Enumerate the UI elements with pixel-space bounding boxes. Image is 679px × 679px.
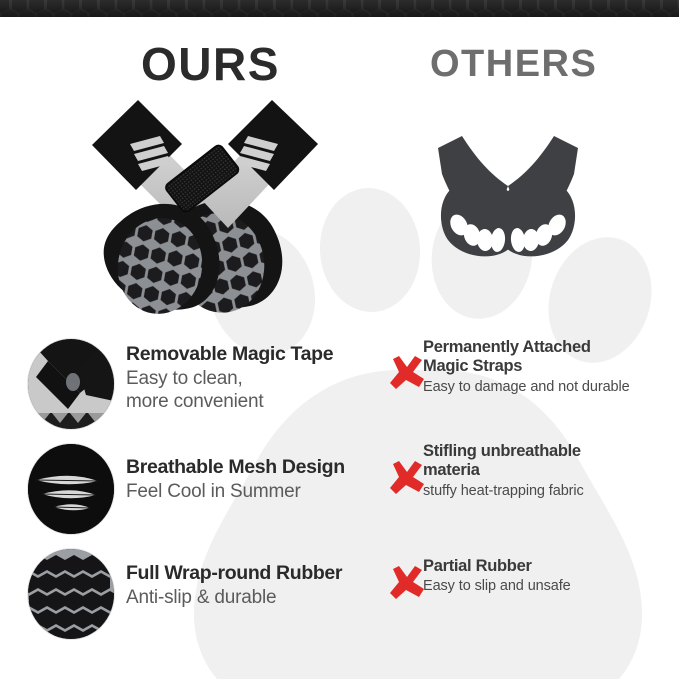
- red-x-icon: [386, 563, 426, 603]
- ours-subtext-line1: Anti-slip & durable: [126, 587, 276, 608]
- others-feature-text: Partial Rubber Easy to slip and unsafe: [423, 557, 675, 596]
- ours-subtext-line2: more convenient: [126, 391, 394, 413]
- others-heading-line1: Partial Rubber: [423, 557, 532, 575]
- others-heading-line1: Stifling unbreathable: [423, 442, 581, 460]
- ours-feature-subtext: Easy to clean, more convenient: [126, 368, 394, 413]
- ours-feature-heading: Removable Magic Tape: [126, 343, 394, 365]
- others-feature-heading: Partial Rubber: [423, 557, 675, 576]
- others-product-image: [428, 130, 588, 280]
- ours-feature-text: Removable Magic Tape Easy to clean, more…: [126, 343, 394, 413]
- column-title-ours: OURS: [141, 37, 280, 91]
- others-feature-heading: Permanently Attached Magic Straps: [423, 338, 675, 377]
- ours-subtext-line1: Feel Cool in Summer: [126, 481, 301, 502]
- others-feature-text: Permanently Attached Magic Straps Easy t…: [423, 338, 675, 396]
- ours-feature-text: Breathable Mesh Design Feel Cool in Summ…: [126, 456, 394, 504]
- column-title-others: OTHERS: [430, 43, 597, 86]
- others-feature-text: Stifling unbreathable materia stuffy hea…: [423, 442, 675, 500]
- thumb-honeycomb-rubber: [28, 549, 114, 639]
- others-feature-subtext: Easy to slip and unsafe: [423, 578, 675, 595]
- ours-feature-heading: Full Wrap-round Rubber: [126, 562, 394, 584]
- ours-feature-heading: Breathable Mesh Design: [126, 456, 394, 478]
- others-feature-subtext: Easy to damage and not durable: [423, 379, 675, 396]
- red-x-icon: [386, 458, 426, 498]
- ours-product-image: [72, 100, 332, 315]
- others-feature-subtext: stuffy heat-trapping fabric: [423, 483, 675, 500]
- thumb-magic-tape: [28, 339, 114, 429]
- others-heading-line2: materia: [423, 461, 675, 480]
- ours-feature-text: Full Wrap-round Rubber Anti-slip & durab…: [126, 562, 394, 610]
- feature-row: Breathable Mesh Design Feel Cool in Summ…: [0, 438, 679, 538]
- others-heading-line1: Permanently Attached: [423, 338, 591, 356]
- others-feature-heading: Stifling unbreathable materia: [423, 442, 675, 481]
- thumb-breathable-mesh: [28, 444, 114, 534]
- comparison-infographic: OURS OTHERS: [0, 0, 679, 679]
- honeycomb-top-border: [0, 0, 679, 17]
- ours-feature-subtext: Anti-slip & durable: [126, 587, 394, 609]
- red-x-icon: [386, 353, 426, 393]
- ours-feature-subtext: Feel Cool in Summer: [126, 481, 394, 503]
- feature-row: Removable Magic Tape Easy to clean, more…: [0, 333, 679, 433]
- feature-row: Full Wrap-round Rubber Anti-slip & durab…: [0, 543, 679, 643]
- others-heading-line2: Magic Straps: [423, 357, 675, 376]
- ours-subtext-line1: Easy to clean,: [126, 368, 243, 389]
